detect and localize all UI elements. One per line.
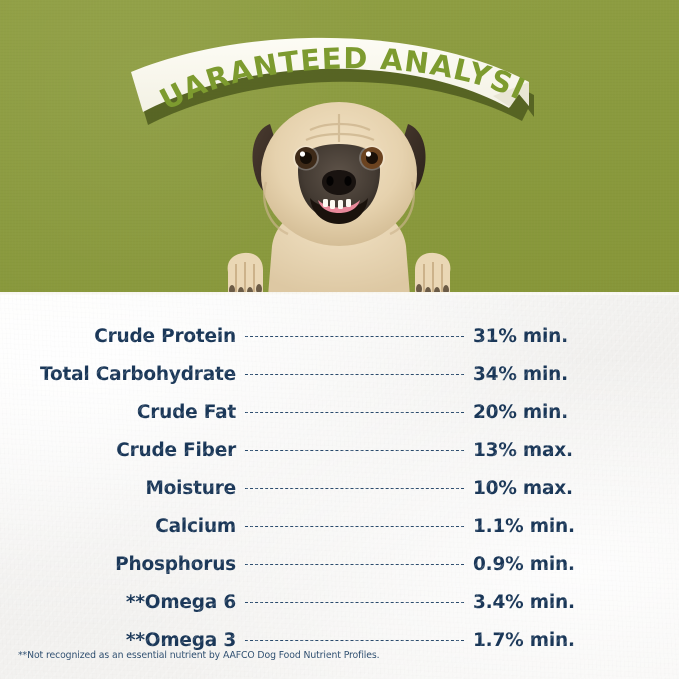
pug-dog-illustration (214, 96, 464, 296)
analysis-row-label: Calcium (0, 516, 236, 537)
analysis-row: Crude Fiber13% max. (0, 438, 679, 476)
analysis-row-value: 13% max. (473, 440, 679, 461)
analysis-row: **Omega 63.4% min. (0, 590, 679, 628)
analysis-footnote: **Not recognized as an essential nutrien… (18, 650, 380, 661)
analysis-row-leader-dots (245, 590, 464, 608)
analysis-row-label: Crude Protein (0, 326, 236, 347)
analysis-row-value: 1.1% min. (473, 516, 679, 537)
analysis-row-value: 10% max. (473, 478, 679, 499)
dog-paw-right (415, 253, 450, 296)
analysis-row-value: 31% min. (473, 326, 679, 347)
analysis-row-label: **Omega 6 (0, 592, 236, 613)
analysis-row-value: 20% min. (473, 402, 679, 423)
dog-paw-left (228, 253, 263, 296)
analysis-panel: Crude Protein31% min.Total Carbohydrate3… (0, 292, 679, 679)
analysis-row-value: 3.4% min. (473, 592, 679, 613)
analysis-row-value: 34% min. (473, 364, 679, 385)
analysis-row-leader-dots (245, 476, 464, 494)
analysis-row: Crude Fat20% min. (0, 400, 679, 438)
analysis-row-label: **Omega 3 (0, 630, 236, 651)
analysis-row-value: 0.9% min. (473, 554, 679, 575)
analysis-row: **Omega 31.7% min. (0, 628, 679, 666)
analysis-row-label: Crude Fat (0, 402, 236, 423)
analysis-row-value: 1.7% min. (473, 630, 679, 651)
guaranteed-analysis-table: Crude Protein31% min.Total Carbohydrate3… (0, 324, 679, 666)
analysis-row-leader-dots (245, 628, 464, 646)
analysis-row-leader-dots (245, 362, 464, 380)
pug-dog-graphic (214, 96, 464, 296)
analysis-row-leader-dots (245, 324, 464, 342)
analysis-row: Crude Protein31% min. (0, 324, 679, 362)
analysis-row-leader-dots (245, 400, 464, 418)
analysis-row-leader-dots (245, 514, 464, 532)
analysis-row-label: Crude Fiber (0, 440, 236, 461)
analysis-row-label: Phosphorus (0, 554, 236, 575)
analysis-row: Calcium1.1% min. (0, 514, 679, 552)
analysis-row-leader-dots (245, 438, 464, 456)
analysis-row: Total Carbohydrate34% min. (0, 362, 679, 400)
guaranteed-analysis-poster: GUARANTEED ANALYSIS (0, 0, 679, 679)
analysis-row-label: Moisture (0, 478, 236, 499)
analysis-row: Moisture10% max. (0, 476, 679, 514)
panel-top-edge (0, 292, 679, 295)
analysis-row: Phosphorus0.9% min. (0, 552, 679, 590)
analysis-row-leader-dots (245, 552, 464, 570)
analysis-row-label: Total Carbohydrate (0, 364, 236, 385)
